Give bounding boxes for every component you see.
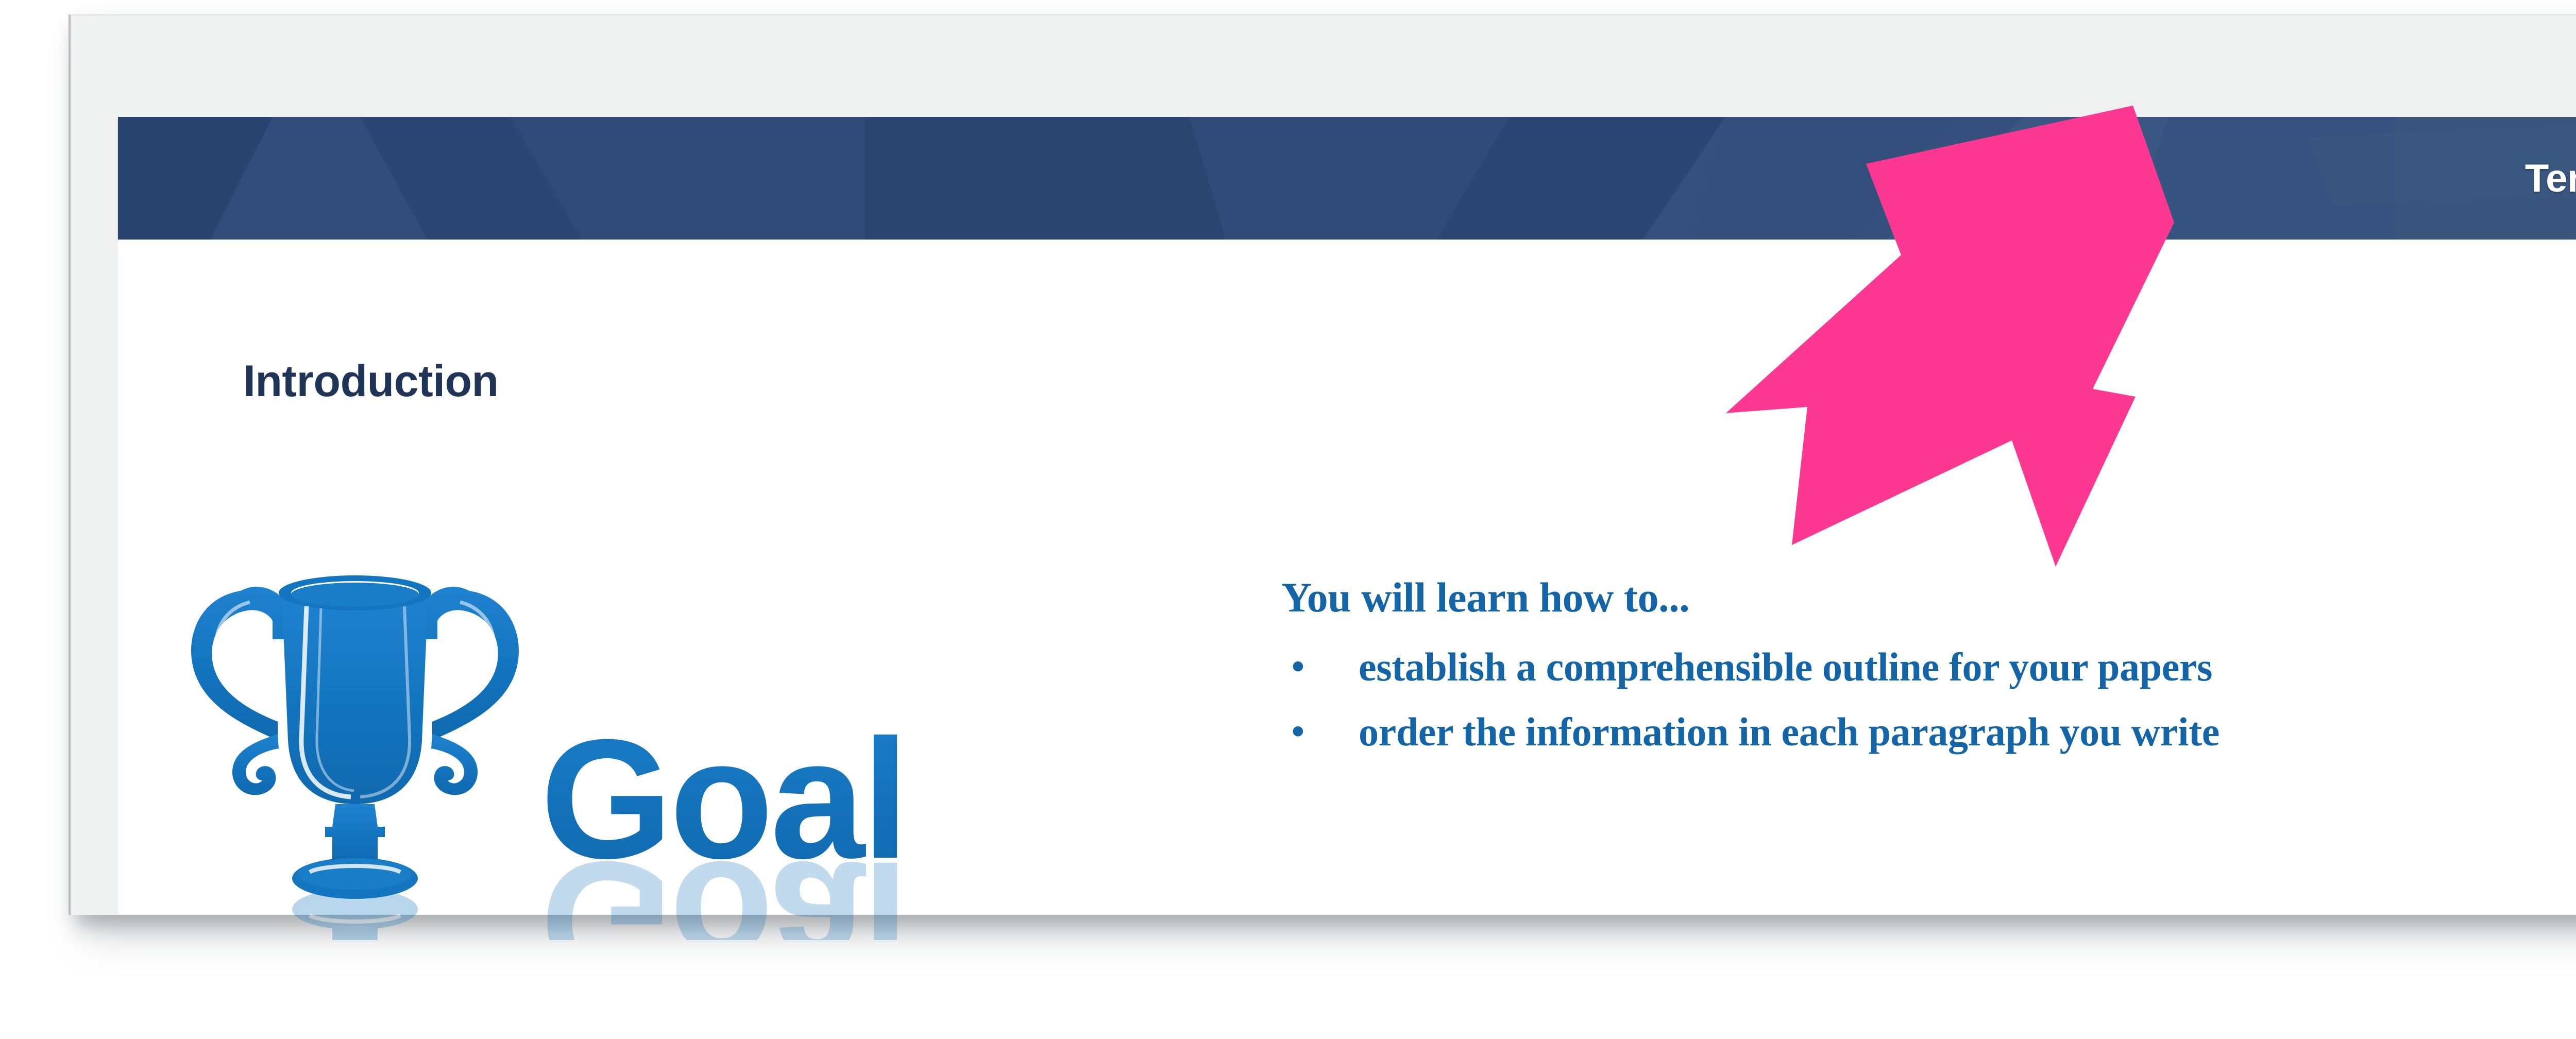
learning-objectives: You will learn how to... • establish a c…	[1281, 573, 2576, 775]
list-item: • establish a comprehensible outline for…	[1281, 645, 2576, 689]
svg-text:Goal: Goal	[540, 827, 906, 940]
goal-wordmark-reflection: Goal	[540, 827, 906, 940]
page-title: Introduction	[243, 356, 499, 407]
header-title-group[interactable]: Term papers: structures	[2525, 117, 2576, 240]
module-content-area: Introduction	[118, 240, 2576, 914]
objective-text: establish a comprehensible outline for y…	[1359, 645, 2212, 689]
list-item: • order the information in each paragrap…	[1281, 710, 2576, 754]
course-module-card: Term papers: structures Introduction	[69, 14, 2576, 915]
header-polygon-texture	[118, 117, 2576, 240]
objectives-lead: You will learn how to...	[1281, 573, 2576, 622]
objective-text: order the information in each paragraph …	[1359, 710, 2219, 754]
module-title: Term papers: structures	[2525, 156, 2576, 201]
module-header-bar: Term papers: structures	[118, 117, 2576, 240]
bullet-icon: •	[1281, 645, 1359, 688]
bullet-icon: •	[1281, 710, 1359, 753]
trophy-icon	[191, 575, 519, 899]
goal-graphic: Goal Goal	[149, 549, 922, 940]
objectives-list: • establish a comprehensible outline for…	[1281, 645, 2576, 754]
